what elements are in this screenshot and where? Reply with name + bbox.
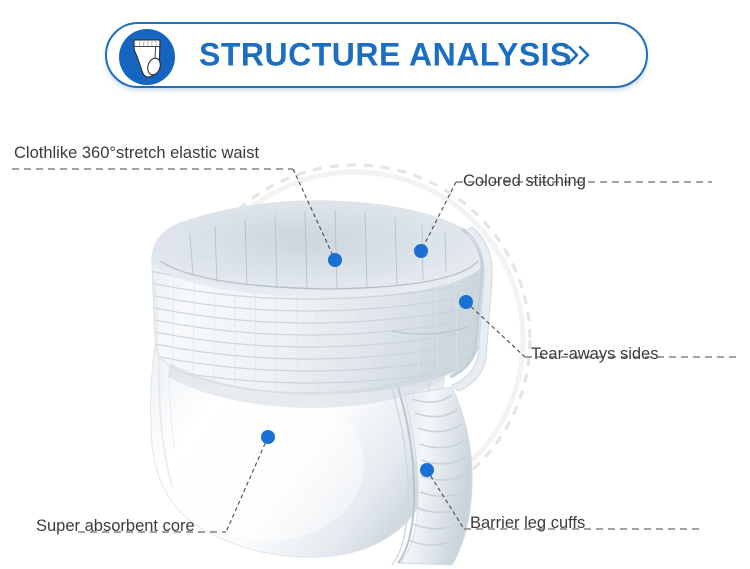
callout-label-tearaway: Tear-aways sides xyxy=(531,345,658,363)
header-banner: STRUCTURE ANALYSIS xyxy=(105,22,648,88)
page-title: STRUCTURE ANALYSIS xyxy=(199,37,572,74)
diaper-drawing xyxy=(130,201,500,565)
hotspot-dot-cuffs[interactable] xyxy=(420,463,434,477)
callout-label-waist: Clothlike 360°stretch elastic waist xyxy=(14,144,259,162)
hotspot-dot-tearaway[interactable] xyxy=(459,295,473,309)
callout-label-stitching: Colored stitching xyxy=(463,172,586,190)
pull-up-diaper-glyph xyxy=(127,35,167,79)
hotspot-dot-stitching[interactable] xyxy=(414,244,428,258)
chevron-double-glyph xyxy=(564,42,594,68)
pull-up-diaper-icon xyxy=(119,29,175,85)
hotspot-dot-core[interactable] xyxy=(261,430,275,444)
chevron-right-double-icon[interactable] xyxy=(564,42,594,68)
hotspot-dot-waist[interactable] xyxy=(328,253,342,267)
product-illustration xyxy=(0,95,750,569)
callout-label-cuffs: Barrier leg cuffs xyxy=(470,514,585,532)
callout-label-core: Super absorbent core xyxy=(36,517,195,535)
